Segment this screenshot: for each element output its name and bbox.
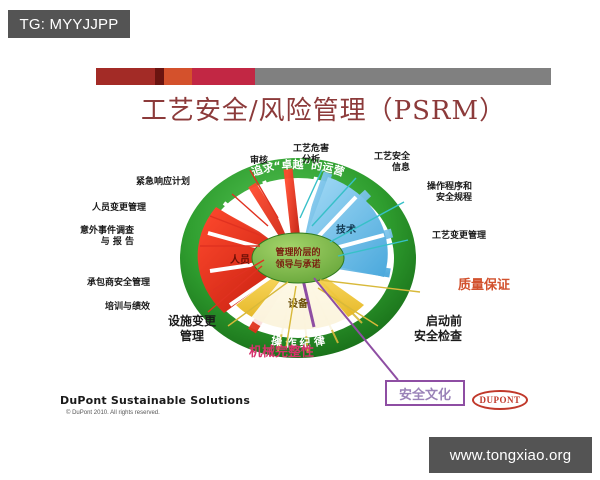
callout-process-safety-information: 工艺安全 信息 xyxy=(352,152,410,175)
sector-label-people: 人员 xyxy=(230,253,250,266)
callout-process-change-mgmt: 工艺变更管理 xyxy=(404,231,486,242)
header-color-bar xyxy=(96,68,551,85)
header-bar-segment-crimson xyxy=(192,68,256,85)
sector-label-technology: 技术 xyxy=(336,223,356,236)
callout-process-hazard-analysis: 工艺危害 分析 xyxy=(284,144,338,167)
sector-label-facilities: 设备 xyxy=(288,297,309,310)
header-bar-segment-orange-red xyxy=(164,68,191,85)
callout-personnel-change-mgmt: 人员变更管理 xyxy=(66,203,146,214)
slide-canvas: 9 工艺安全/风险管理（PSRM） xyxy=(0,50,600,435)
page-number: 9 xyxy=(586,69,592,80)
callout-safety-culture-box: 安全文化 xyxy=(385,380,465,406)
callout-facility-change-mgmt: 设施变更 管理 xyxy=(142,314,242,344)
header-bar-segment-grey xyxy=(255,68,551,85)
wheel-center-line1: 管理阶层的 xyxy=(275,246,320,258)
dupont-logo: DUPONT xyxy=(472,390,528,410)
callout-audit: 审核 xyxy=(242,156,276,167)
watermark-tag: TG: MYYJJPP xyxy=(8,10,130,38)
footer-copyright: © DuPont 2010. All rights reserved. xyxy=(66,410,160,416)
header-bar-segment-deep-maroon xyxy=(155,68,164,85)
callout-mechanical-integrity: 机械完整性 xyxy=(204,345,314,361)
callout-pre-startup-safety-review: 启动前 安全检查 xyxy=(376,314,462,344)
callout-operating-procedures: 操作程序和 安全规程 xyxy=(402,182,472,205)
callout-emergency-response-plan: 紧急响应计划 xyxy=(116,177,190,188)
callout-contractor-safety-mgmt: 承包商安全管理 xyxy=(60,278,150,289)
callout-quality-assurance: 质量保证 xyxy=(420,278,510,294)
wheel-center-hub xyxy=(252,233,344,283)
callout-training-performance: 培训与绩效 xyxy=(78,302,150,313)
header-bar-segment-dark-red xyxy=(96,68,155,85)
callout-incident-investigation: 意外事件调查 与 报 告 xyxy=(54,226,134,249)
watermark-url: www.tongxiao.org xyxy=(429,437,592,473)
page-title: 工艺安全/风险管理（PSRM） xyxy=(96,90,551,127)
callout-safety-culture: 安全文化 xyxy=(399,384,451,403)
footer-brand: DuPont Sustainable Solutions xyxy=(60,394,250,407)
wheel-center-line2: 领导与承诺 xyxy=(275,258,320,270)
